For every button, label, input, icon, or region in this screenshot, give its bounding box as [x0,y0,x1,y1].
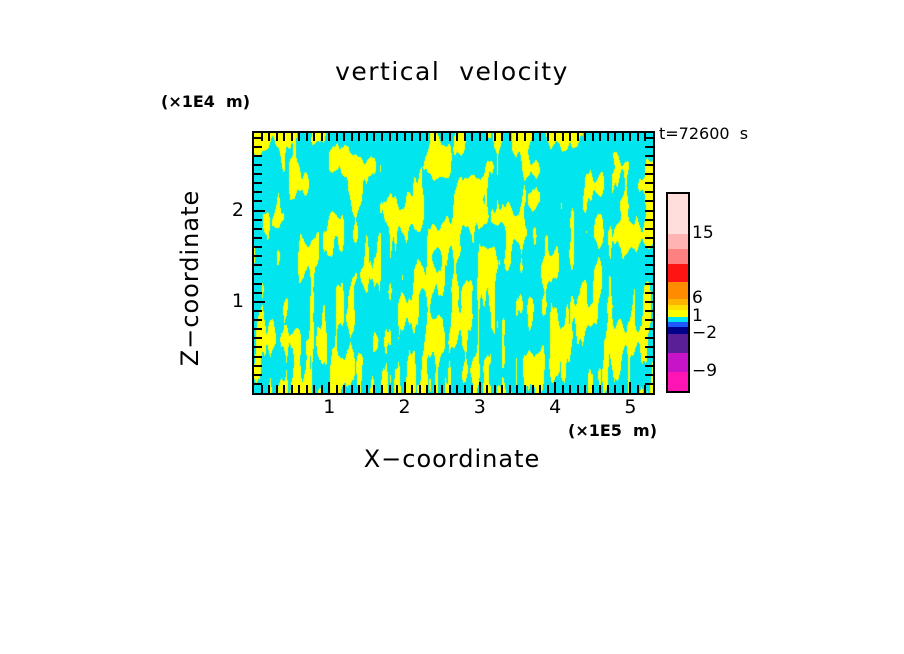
x-axis-tick [404,382,406,393]
contour-field [254,133,653,393]
x-axis-tick [569,385,571,393]
y-axis-tick [254,374,262,376]
page-title: vertical velocity [0,57,904,86]
y-axis-tick [254,164,262,166]
y-axis-tick [254,273,262,275]
x-axis-tick-top [516,133,518,141]
y-axis-tick-right [645,319,653,321]
y-axis-tick-right [645,365,653,367]
y-axis-tick [254,356,262,358]
time-annotation: t=72600 s [659,124,748,143]
colorbar-band [668,310,688,317]
x-axis-tick [584,385,586,393]
x-axis-tick-top [366,133,368,141]
colorbar-band [668,353,688,372]
y-axis-tick-right [645,301,653,303]
x-axis-tick-top [486,133,488,141]
x-axis-tick [614,385,616,393]
y-axis-tick [254,337,262,339]
x-axis-tick [306,385,308,393]
x-axis-tick [464,385,466,393]
x-axis-tick-top [426,133,428,141]
x-axis-tick [479,382,481,393]
x-axis-tick-top [622,133,624,141]
x-axis-tick [599,385,601,393]
x-axis-tick [516,385,518,393]
x-axis-tick-top [396,133,398,141]
x-axis-tick-top [276,133,278,141]
x-axis-tick-top [313,133,315,141]
x-axis-tick-top [441,133,443,141]
colorbar-tick-label: −9 [692,361,717,381]
x-axis-tick-top [343,133,345,141]
x-axis-tick-top [614,133,616,141]
x-axis-tick [411,385,413,393]
y-axis-tick-right [645,283,653,285]
x-axis-tick [577,385,579,393]
x-axis-tick-top [532,133,534,141]
y-axis-tick [254,346,262,348]
x-axis-tick [471,385,473,393]
figure-canvas: vertical velocity (×1E4 m) t=72600 s (×1… [0,0,904,654]
x-axis-tick-top [449,133,451,141]
y-axis-tick [254,328,262,330]
x-axis-tick-top [629,133,631,141]
x-axis-tick [441,385,443,393]
x-axis-tick [547,385,549,393]
x-axis-tick [261,385,263,393]
x-axis-tick-top [554,133,556,141]
x-axis-tick-top [509,133,511,141]
x-axis-tick-top [373,133,375,141]
y-axis-tick-right [645,328,653,330]
y-axis-tick-right [645,246,653,248]
x-axis-tick-top [298,133,300,141]
x-axis-tick [313,385,315,393]
x-axis-tick-top [268,133,270,141]
x-axis-tick-top [479,133,481,141]
x-axis-tick [358,385,360,393]
y-axis-tick-right [645,356,653,358]
y-axis-tick-right [645,164,653,166]
x-axis-tick [336,385,338,393]
x-axis-tick [449,385,451,393]
y-axis-tick-label: 1 [222,290,244,312]
y-axis-tick-right [645,146,653,148]
y-axis-tick [254,255,262,257]
x-axis-tick [539,385,541,393]
x-axis-tick-top [419,133,421,141]
x-axis-tick-top [434,133,436,141]
x-axis-tick [366,385,368,393]
y-axis-tick [254,228,262,230]
y-axis-tick [254,146,262,148]
y-axis-tick [254,219,262,221]
x-axis-tick-top [411,133,413,141]
x-axis-tick-top [569,133,571,141]
x-axis-tick-top [637,133,639,141]
x-axis-tick [434,385,436,393]
y-axis-tick [254,200,262,202]
y-axis-tick-right [645,191,653,193]
colorbar-tick-label: 15 [692,223,714,243]
x-axis-tick [419,385,421,393]
x-axis-tick [373,385,375,393]
x-axis-tick-label: 2 [390,396,420,418]
colorbar-band [668,334,688,353]
x-axis-tick-label: 1 [314,396,344,418]
x-axis-tick [486,385,488,393]
x-axis-tick-top [306,133,308,141]
x-axis-tick-top [351,133,353,141]
x-axis-tick-top [283,133,285,141]
colorbar-band [668,282,688,300]
y-axis-tick [254,182,262,184]
x-axis-tick [501,385,503,393]
y-axis-tick-right [645,264,653,266]
x-axis-tick [629,382,631,393]
x-axis-tick-top [547,133,549,141]
x-axis-title: X−coordinate [0,445,904,473]
x-axis-tick-label: 4 [540,396,570,418]
x-axis-tick [592,385,594,393]
colorbar-tick-label: −2 [692,323,717,343]
x-axis-tick [562,385,564,393]
y-axis-tick-right [645,228,653,230]
colorbar-band [668,327,688,334]
y-axis-tick [254,246,262,248]
y-axis-tick-right [645,155,653,157]
y-axis-tick-right [645,200,653,202]
x-axis-tick-label: 5 [615,396,645,418]
colorbar [666,192,690,393]
y-axis-tick [254,155,262,157]
x-axis-tick [291,385,293,393]
x-axis-tick-top [539,133,541,141]
colorbar-band [668,264,688,282]
x-axis-tick [644,385,646,393]
x-axis-tick-top [607,133,609,141]
y-axis-tick-right [645,292,653,294]
x-axis-tick-top [562,133,564,141]
x-axis-tick [622,385,624,393]
x-axis-tick [381,385,383,393]
x-axis-tick-label: 3 [465,396,495,418]
y-axis-title: Z−coordinate [176,168,204,388]
x-axis-tick-top [358,133,360,141]
y-axis-tick-right [645,383,653,385]
x-axis-tick-top [381,133,383,141]
x-axis-tick-top [291,133,293,141]
x-axis-tick [607,385,609,393]
y-axis-tick [254,283,262,285]
colorbar-band [668,249,688,264]
x-axis-tick-top [456,133,458,141]
y-axis-tick-right [645,210,653,212]
plot-area [252,131,655,395]
y-axis-tick-right [645,237,653,239]
y-axis-tick-right [645,173,653,175]
x-axis-tick [426,385,428,393]
y-axis-tick-right [645,374,653,376]
x-axis-tick [283,385,285,393]
x-axis-tick [276,385,278,393]
y-axis-tick [254,310,262,312]
y-axis-tick-right [645,255,653,257]
y-axis-tick-right [645,182,653,184]
x-axis-tick [456,385,458,393]
x-axis-tick-top [328,133,330,141]
x-axis-tick-top [404,133,406,141]
y-axis-tick [254,301,265,303]
x-axis-tick [343,385,345,393]
y-axis-tick [254,137,262,139]
x-axis-tick [268,385,270,393]
x-axis-tick [351,385,353,393]
x-axis-tick [494,385,496,393]
colorbar-band [668,372,688,391]
x-axis-tick-top [464,133,466,141]
x-axis-tick [554,382,556,393]
colorbar-band [668,234,688,249]
x-axis-tick [389,385,391,393]
y-axis-tick [254,237,262,239]
x-axis-tick [637,385,639,393]
y-axis-tick-right [645,273,653,275]
x-axis-tick-top [501,133,503,141]
x-axis-tick-top [599,133,601,141]
y-axis-tick [254,191,262,193]
x-axis-tick-top [389,133,391,141]
x-axis-tick [298,385,300,393]
y-axis-tick [254,292,262,294]
x-axis-tick [532,385,534,393]
y-axis-tick-right [645,219,653,221]
y-axis-tick-label: 2 [222,199,244,221]
y-axis-tick [254,264,262,266]
y-axis-tick [254,210,265,212]
x-axis-tick-top [577,133,579,141]
colorbar-band [668,194,688,234]
x-axis-tick-top [592,133,594,141]
x-axis-tick [509,385,511,393]
x-axis-tick-top [321,133,323,141]
y-axis-tick-right [645,337,653,339]
y-axis-tick-right [645,137,653,139]
x-axis-tick [524,385,526,393]
y-axis-tick [254,173,262,175]
y-axis-tick [254,383,262,385]
x-axis-unit-label: (×1E5 m) [568,421,657,440]
y-axis-tick [254,365,262,367]
x-axis-tick [396,385,398,393]
x-axis-tick-top [524,133,526,141]
x-axis-tick [321,385,323,393]
x-axis-tick-top [494,133,496,141]
x-axis-tick-top [336,133,338,141]
y-axis-tick-right [645,346,653,348]
x-axis-tick-top [471,133,473,141]
y-axis-unit-label: (×1E4 m) [161,92,250,111]
y-axis-tick-right [645,310,653,312]
y-axis-tick [254,319,262,321]
x-axis-tick [328,382,330,393]
x-axis-tick-top [584,133,586,141]
